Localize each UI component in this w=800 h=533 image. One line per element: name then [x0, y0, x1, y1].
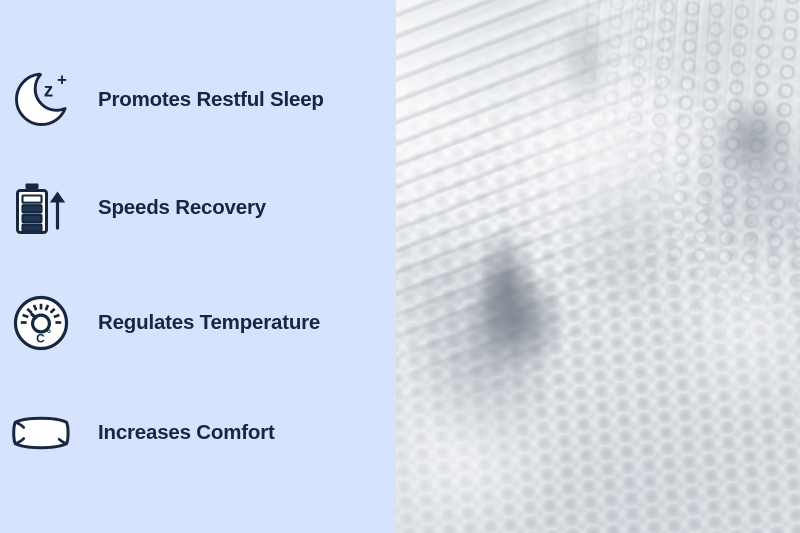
moon-plus-glyph: +: [57, 71, 67, 90]
benefit-label-recovery: Speeds Recovery: [98, 197, 266, 220]
benefit-item-temperature: C ° Regulates Temperature: [0, 285, 396, 361]
thermostat-dial-icon: C °: [2, 285, 80, 361]
benefits-panel: z + Promotes Restful Sleep: [0, 0, 396, 533]
promo-feature-graphic: z + Promotes Restful Sleep: [0, 0, 800, 533]
benefit-label-sleep: Promotes Restful Sleep: [98, 89, 324, 112]
benefit-label-temperature: Regulates Temperature: [98, 312, 320, 335]
battery-charging-icon: [2, 170, 80, 246]
pillow-icon: [2, 395, 80, 471]
benefit-item-recovery: Speeds Recovery: [0, 170, 396, 246]
benefit-label-comfort: Increases Comfort: [98, 422, 275, 445]
mattress-foam-closeup-photo: [396, 0, 800, 533]
thermostat-unit-glyph: C: [36, 331, 45, 345]
moon-sleep-icon: z +: [2, 62, 80, 138]
benefit-item-sleep: z + Promotes Restful Sleep: [0, 62, 396, 138]
thermostat-degree-glyph: °: [47, 329, 51, 341]
benefit-item-comfort: Increases Comfort: [0, 395, 396, 471]
photo-highlight-layer: [396, 0, 800, 533]
moon-z-glyph: z: [44, 81, 54, 102]
